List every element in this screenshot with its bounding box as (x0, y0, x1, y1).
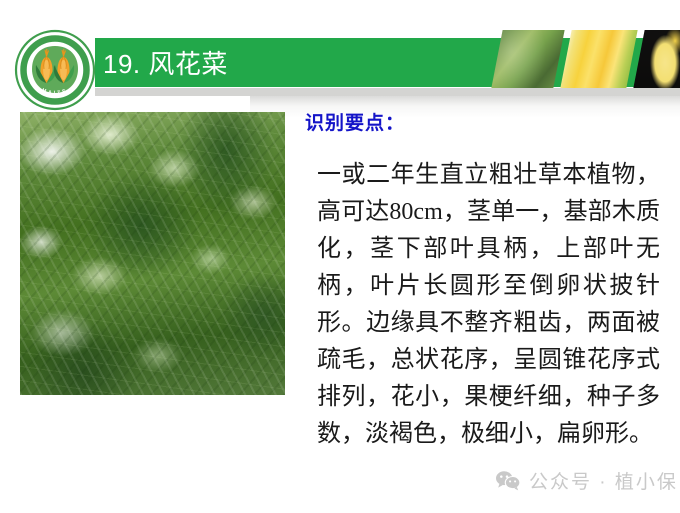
wechat-icon (495, 470, 521, 491)
body-paragraph: 一或二年生直立粗壮草本植物，高可达80cm，茎单一，基部木质化，茎下部叶具柄，上… (305, 157, 660, 453)
content-text-column: 识别要点： 一或二年生直立粗壮草本植物，高可达80cm，茎单一，基部木质化，茎下… (305, 108, 660, 453)
slide-canvas: 19. 风花菜 (0, 0, 680, 513)
footer-watermark: 公众号 · 植小保 (495, 467, 678, 494)
header-gray-strip (95, 88, 680, 96)
corn-cobs-panel (560, 30, 637, 88)
page-title: 19. 风花菜 (103, 43, 228, 80)
photo-texture-layer (20, 112, 285, 395)
watermark-label: 公众号 · 植小保 (529, 467, 678, 494)
slide-header: 19. 风花菜 (0, 0, 680, 100)
corn-plant-leaves-panel (491, 30, 564, 88)
maize-industry-emblem-logo: 国家玉米产业技术体系 MAIZE (14, 29, 96, 111)
section-heading: 识别要点： (305, 108, 660, 135)
plant-field-photo (20, 112, 285, 395)
